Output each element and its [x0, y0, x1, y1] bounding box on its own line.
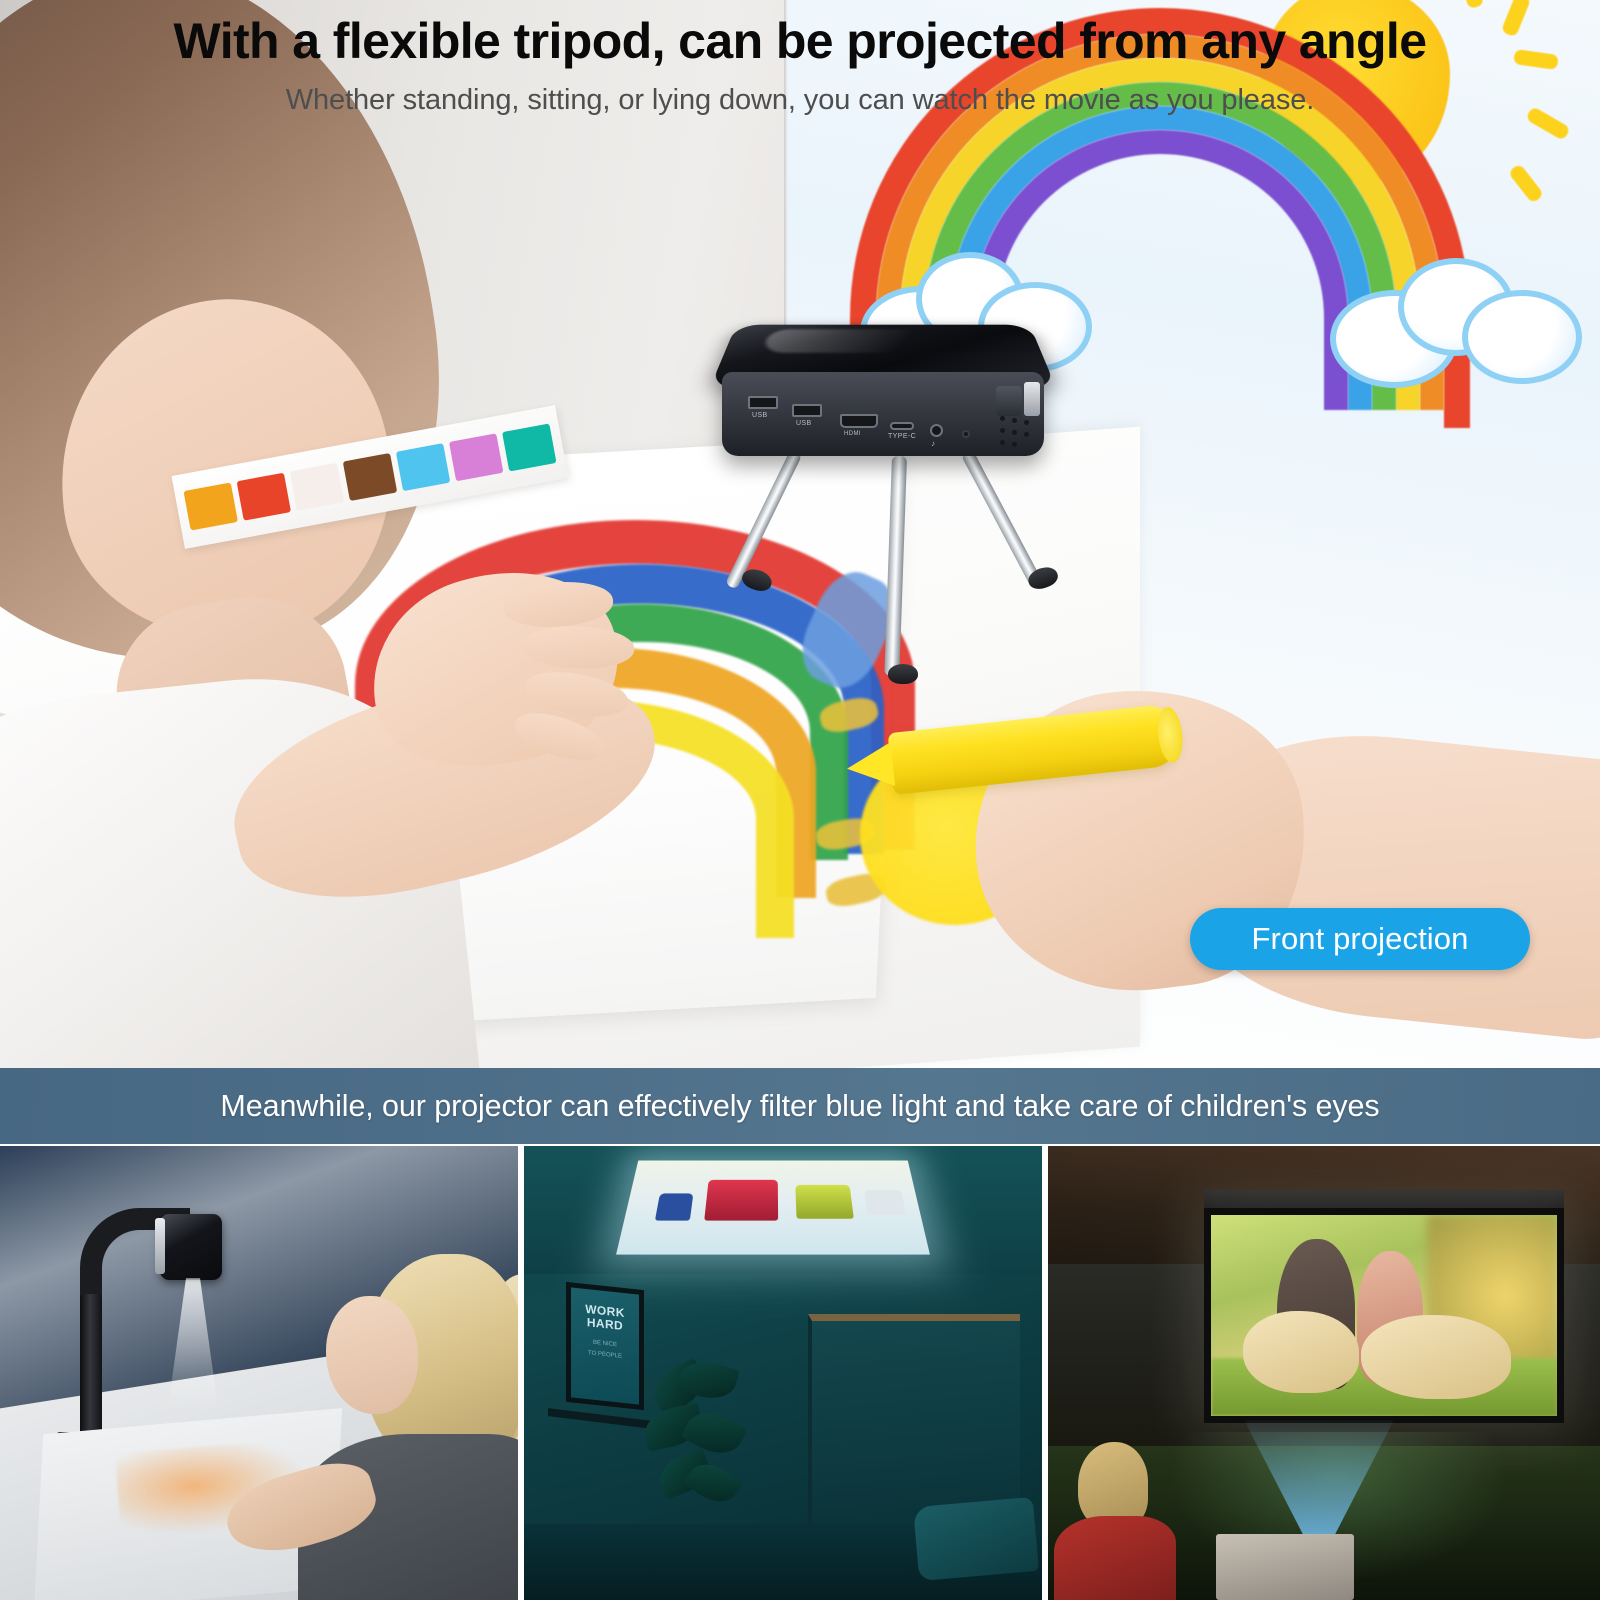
hdmi-port-label: HDMI [844, 431, 861, 437]
hdmi-port [840, 414, 878, 428]
swatch-violet [449, 433, 503, 481]
p1-projector-device [160, 1214, 222, 1280]
power-button[interactable] [996, 386, 1022, 416]
ir-sensor [962, 430, 970, 438]
power-rocker-switch[interactable] [1024, 382, 1040, 416]
swatch-white [290, 463, 344, 511]
banner-text: Meanwhile, our projector can effectively… [220, 1089, 1379, 1124]
usb-port-1 [748, 396, 778, 409]
tripod-foot-center [888, 664, 918, 684]
projector-body: USB USB HDMI TYPE-C ♪ [722, 372, 1044, 456]
swatch-brown [343, 453, 397, 501]
p2-ceiling-projection [616, 1161, 930, 1255]
swatch-red [237, 473, 291, 521]
p2-window-blind [808, 1314, 1020, 1526]
type-c-port-label: TYPE-C [888, 433, 916, 440]
p2-poster-sub-1: BE NICE [593, 1339, 617, 1351]
hero-section: USB USB HDMI TYPE-C ♪ With a flexible tr… [0, 0, 1600, 1068]
p3-photo-dog-left [1243, 1311, 1359, 1393]
p3-projection-screen [1204, 1208, 1564, 1423]
type-c-port [890, 422, 914, 430]
panel-top-down-projection: Top-down projection [0, 1146, 518, 1600]
p2-wall-poster: WORK HARD BE NICE TO PEOPLE [566, 1282, 644, 1410]
p3-projected-photo [1211, 1215, 1557, 1416]
headphone-jack [930, 424, 943, 437]
swatch-orange [183, 482, 237, 530]
p2-potted-plant [642, 1354, 742, 1524]
p2-poster-sub-2: TO PEOPLE [588, 1349, 622, 1362]
p1-gooseneck-arm-post [80, 1294, 102, 1444]
page-headline: With a flexible tripod, can be projected… [0, 12, 1600, 70]
p3-projector-stand [1216, 1534, 1354, 1600]
p1-woman-face [326, 1296, 418, 1414]
mini-projector-device: USB USB HDMI TYPE-C ♪ [714, 300, 1054, 480]
p2-pillow [913, 1497, 1039, 1581]
panel-upward-projection: WORK HARD BE NICE TO PEOPLE Upward proje… [524, 1146, 1042, 1600]
usb-port-2 [792, 404, 822, 417]
swatch-teal [502, 423, 556, 471]
usb-port-2-label: USB [796, 420, 812, 427]
swatch-cyan [396, 443, 450, 491]
headphone-jack-label: ♪ [931, 439, 935, 448]
panel-gutter-2 [1042, 1146, 1048, 1600]
usb-port-1-label: USB [752, 412, 768, 419]
panel-gutter-1 [518, 1146, 524, 1600]
blue-light-filter-banner: Meanwhile, our projector can effectively… [0, 1068, 1600, 1144]
p2-poster-line-2: HARD [587, 1316, 623, 1332]
page-subheadline: Whether standing, sitting, or lying down… [0, 84, 1600, 117]
panel-side-projection: Side projection [1048, 1146, 1600, 1600]
p3-viewer-body [1054, 1516, 1176, 1600]
p3-photo-dog-right [1361, 1315, 1511, 1399]
badge-front-projection: Front projection [1190, 908, 1530, 970]
